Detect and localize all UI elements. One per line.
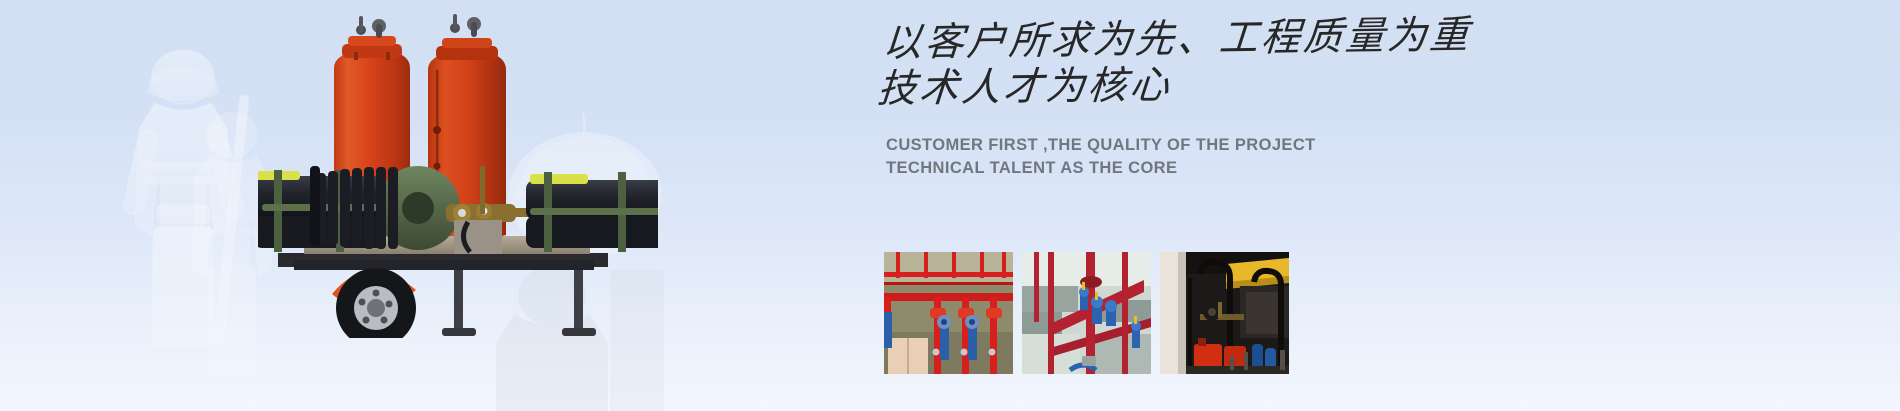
thumb-3-image: [1160, 252, 1289, 374]
thumb-1-image: [884, 252, 1013, 374]
trailer-chassis: [294, 260, 596, 338]
thumb-red-pipes-stairwell[interactable]: [1022, 252, 1151, 374]
hose-bundle-right: [526, 172, 658, 252]
thumb-pump-room-equipment[interactable]: [1160, 252, 1289, 374]
thumb-2-image: [1022, 252, 1151, 374]
subtitle-english: CUSTOMER FIRST ,THE QUALITY OF THE PROJE…: [886, 112, 1586, 180]
product-photo-foam-fire-trailer: [258, 8, 658, 338]
headline-line-1: 以客户所求为先、工程质量为重: [881, 14, 1473, 65]
subtitle-line-1: CUSTOMER FIRST ,THE QUALITY OF THE PROJE…: [886, 134, 1586, 157]
hose-reel: [310, 166, 460, 250]
project-thumbnail-strip: [884, 252, 1289, 374]
hero-banner: 以客户所求为先、工程质量为重 技术人才为核心 CUSTOMER FIRST ,T…: [0, 0, 1900, 411]
headline-chinese: 以客户所求为先、工程质量为重 技术人才为核心: [878, 0, 1587, 112]
subtitle-line-2: TECHNICAL TALENT AS THE CORE: [886, 157, 1586, 180]
headline-line-2: 技术人才为核心: [876, 58, 1582, 112]
thumb-red-sprinkler-riser-room[interactable]: [884, 252, 1013, 374]
firefighter-with-hose-watermark: [95, 25, 270, 370]
